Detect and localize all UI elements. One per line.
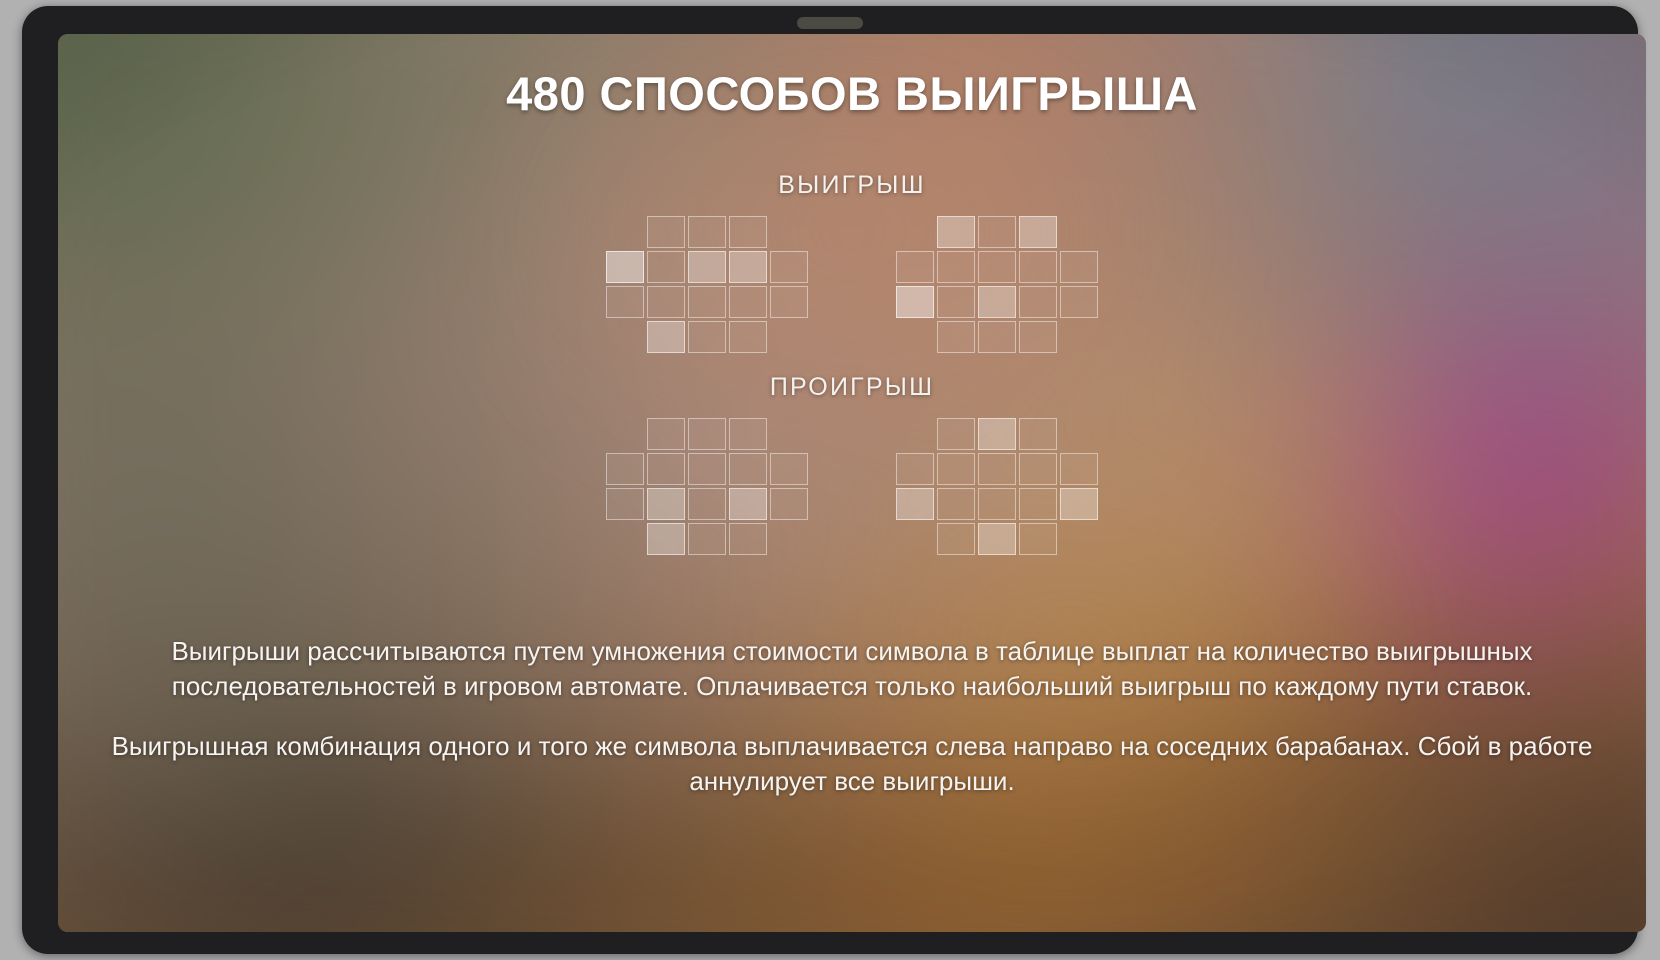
win-example-left <box>606 216 808 353</box>
reel-cell-1-1 <box>647 453 685 485</box>
info-text-block: Выигрыши рассчитываются путем умножения … <box>58 634 1646 798</box>
reel-cell-3-1 <box>937 321 975 353</box>
reel-cell-1-3 <box>1019 453 1057 485</box>
reel-cell-1-3 <box>1019 251 1057 283</box>
reel-cell-2-0 <box>896 286 934 318</box>
lose-example-right <box>896 418 1098 555</box>
reel-cell-3-3 <box>1019 523 1057 555</box>
device-bezel: 480 СПОСОБОВ ВЫИГРЫША ВЫИГРЫШ ПРОИГРЫШ <box>22 6 1638 954</box>
reel-cell-2-1 <box>937 286 975 318</box>
reel-cell-1-4 <box>770 453 808 485</box>
win-section: ВЫИГРЫШ <box>606 171 1098 353</box>
reel-cell-0-3 <box>729 418 767 450</box>
reel-cell-1-0 <box>606 453 644 485</box>
reel-cell-0-1 <box>937 216 975 248</box>
reel-cell-3-0 <box>606 321 644 353</box>
camera-notch-icon <box>797 17 863 29</box>
reel-cell-1-4 <box>1060 251 1098 283</box>
page-title: 480 СПОСОБОВ ВЫИГРЫША <box>506 66 1198 121</box>
reel-cell-0-2 <box>978 418 1016 450</box>
reel-cell-1-3 <box>729 453 767 485</box>
lose-diagram-row <box>606 418 1098 555</box>
reel-cell-3-2 <box>978 523 1016 555</box>
info-paragraph-2: Выигрышная комбинация одного и того же с… <box>84 729 1620 798</box>
reel-cell-0-3 <box>1019 216 1057 248</box>
reel-cell-1-3 <box>729 251 767 283</box>
reel-cell-0-3 <box>1019 418 1057 450</box>
reel-cell-3-0 <box>606 523 644 555</box>
reel-cell-0-2 <box>978 216 1016 248</box>
reel-cell-1-0 <box>896 453 934 485</box>
lose-section: ПРОИГРЫШ <box>606 373 1098 555</box>
reel-cell-3-3 <box>729 321 767 353</box>
reel-cell-2-1 <box>647 286 685 318</box>
reel-cell-1-4 <box>1060 453 1098 485</box>
device-frame: 480 СПОСОБОВ ВЫИГРЫША ВЫИГРЫШ ПРОИГРЫШ <box>0 0 1660 960</box>
reel-cell-0-1 <box>647 216 685 248</box>
win-label: ВЫИГРЫШ <box>606 171 1098 200</box>
reel-cell-0-0 <box>896 216 934 248</box>
reel-cell-2-2 <box>688 488 726 520</box>
reel-cell-0-1 <box>647 418 685 450</box>
reel-cell-0-1 <box>937 418 975 450</box>
reel-cell-2-4 <box>770 286 808 318</box>
reel-cell-3-3 <box>1019 321 1057 353</box>
reel-cell-1-1 <box>937 251 975 283</box>
reel-cell-1-1 <box>647 251 685 283</box>
reel-grid <box>606 216 808 353</box>
reel-cell-2-4 <box>1060 286 1098 318</box>
reel-cell-2-0 <box>606 488 644 520</box>
reel-cell-2-1 <box>937 488 975 520</box>
info-paragraph-1: Выигрыши рассчитываются путем умножения … <box>84 634 1620 703</box>
reel-cell-1-2 <box>978 453 1016 485</box>
lose-label: ПРОИГРЫШ <box>606 373 1098 402</box>
reel-cell-2-4 <box>770 488 808 520</box>
reel-cell-3-4 <box>770 523 808 555</box>
reel-cell-0-0 <box>606 216 644 248</box>
reel-cell-3-0 <box>896 523 934 555</box>
reel-cell-2-2 <box>978 286 1016 318</box>
reel-cell-3-2 <box>688 321 726 353</box>
reel-cell-3-2 <box>978 321 1016 353</box>
reel-cell-1-0 <box>896 251 934 283</box>
reel-cell-1-2 <box>688 251 726 283</box>
reel-cell-1-1 <box>937 453 975 485</box>
reel-cell-3-4 <box>770 321 808 353</box>
reel-cell-2-3 <box>729 286 767 318</box>
reel-cell-2-2 <box>978 488 1016 520</box>
reel-grid <box>896 418 1098 555</box>
reel-cell-3-3 <box>729 523 767 555</box>
reel-cell-0-2 <box>688 216 726 248</box>
reel-cell-0-2 <box>688 418 726 450</box>
reel-cell-2-0 <box>896 488 934 520</box>
reel-cell-1-2 <box>688 453 726 485</box>
reel-cell-0-0 <box>896 418 934 450</box>
reel-cell-0-0 <box>606 418 644 450</box>
reel-cell-3-0 <box>896 321 934 353</box>
game-screen: 480 СПОСОБОВ ВЫИГРЫША ВЫИГРЫШ ПРОИГРЫШ <box>58 34 1646 932</box>
reel-grid <box>606 418 808 555</box>
reel-cell-3-4 <box>1060 523 1098 555</box>
reel-cell-2-3 <box>1019 488 1057 520</box>
reel-cell-2-3 <box>1019 286 1057 318</box>
reel-cell-3-1 <box>937 523 975 555</box>
win-diagram-row <box>606 216 1098 353</box>
reel-cell-2-2 <box>688 286 726 318</box>
reel-cell-1-4 <box>770 251 808 283</box>
reel-cell-2-4 <box>1060 488 1098 520</box>
reel-cell-3-1 <box>647 523 685 555</box>
reel-cell-0-4 <box>1060 418 1098 450</box>
reel-cell-2-3 <box>729 488 767 520</box>
reel-cell-0-4 <box>1060 216 1098 248</box>
lose-example-left <box>606 418 808 555</box>
reel-cell-0-4 <box>770 418 808 450</box>
reel-cell-3-1 <box>647 321 685 353</box>
reel-cell-1-2 <box>978 251 1016 283</box>
reel-cell-3-2 <box>688 523 726 555</box>
win-example-right <box>896 216 1098 353</box>
reel-cell-0-3 <box>729 216 767 248</box>
reel-cell-3-4 <box>1060 321 1098 353</box>
reel-cell-2-0 <box>606 286 644 318</box>
reel-cell-0-4 <box>770 216 808 248</box>
reel-cell-1-0 <box>606 251 644 283</box>
content-area: 480 СПОСОБОВ ВЫИГРЫША ВЫИГРЫШ ПРОИГРЫШ <box>58 34 1646 932</box>
reel-grid <box>896 216 1098 353</box>
reel-cell-2-1 <box>647 488 685 520</box>
